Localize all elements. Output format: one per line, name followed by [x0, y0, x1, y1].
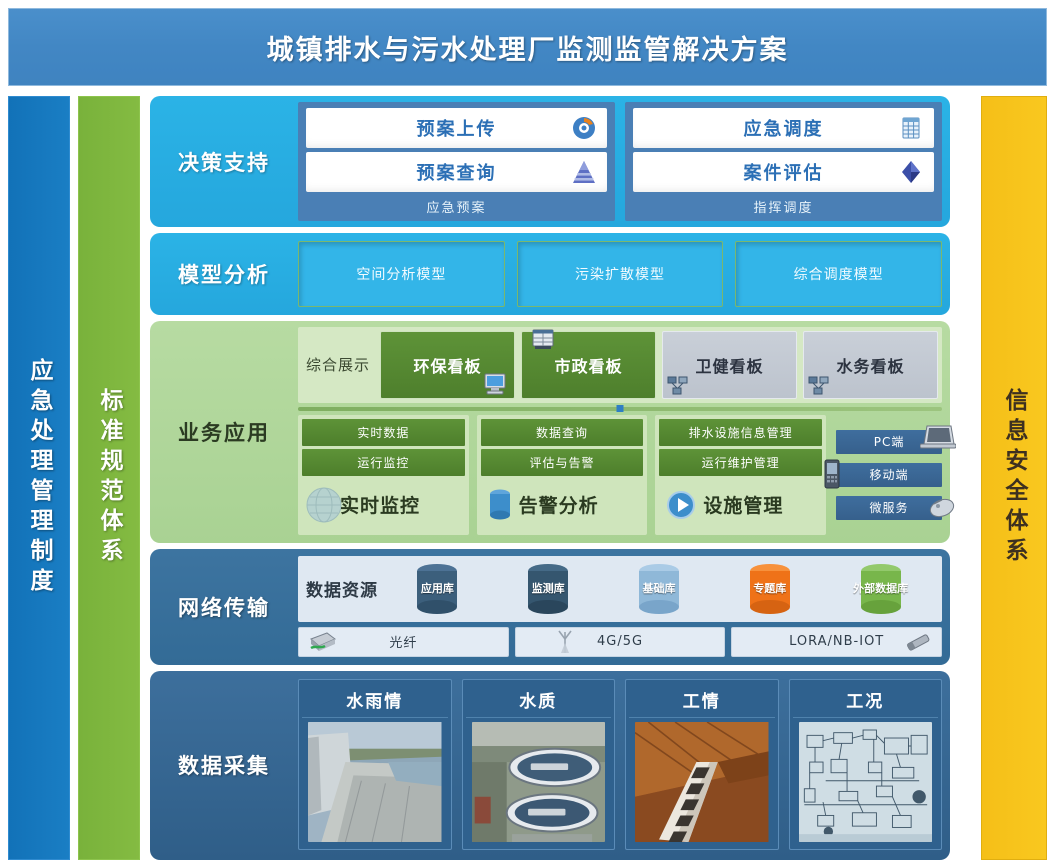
cylinder-icon: 监测库	[520, 562, 576, 616]
sedimentation-tanks-photo	[472, 722, 606, 842]
decision-group-command-dispatch: 应急调度 案件评估 指挥调度	[625, 102, 942, 221]
database-thematic-label: 专题库	[753, 583, 786, 595]
transport-fiber[interactable]: 光纤	[298, 627, 509, 657]
scada-schematic-photo	[799, 722, 933, 842]
terminal-column: PC端 移动端 微服务	[834, 415, 942, 535]
layer-model-analysis-label: 模型分析	[150, 259, 298, 289]
board-municipal-label: 市政看板	[555, 353, 623, 377]
database-application[interactable]: 应用库	[384, 562, 491, 616]
cycle-icon	[571, 115, 597, 141]
terminal-microservice-label: 微服务	[870, 499, 909, 516]
business-column-facility: 排水设施信息管理 运行维护管理 设施管理	[655, 415, 826, 535]
acquisition-card-project-status-label: 工情	[629, 683, 775, 718]
pill-drainage-facility-info[interactable]: 排水设施信息管理	[659, 419, 822, 446]
play-icon	[665, 489, 697, 521]
laptop-icon	[920, 424, 956, 452]
pyramid-icon	[571, 159, 597, 185]
feature-realtime-monitoring[interactable]: 实时监控	[302, 479, 465, 531]
transport-lora-nbiot-label: LORA/NB-IOT	[789, 634, 884, 649]
data-resource-row: 数据资源 应用库 监测库	[298, 556, 942, 622]
terminal-microservice[interactable]: 微服务	[836, 496, 942, 520]
sensor-icon	[903, 630, 933, 654]
mouse-icon	[926, 494, 958, 520]
database-external[interactable]: 外部数据库	[827, 562, 934, 616]
decision-card-case-evaluation[interactable]: 案件评估	[633, 152, 934, 192]
database-icon	[487, 488, 513, 522]
board-environmental[interactable]: 环保看板	[380, 331, 515, 399]
business-column-monitoring: 实时数据 运行监控 实时监控	[298, 415, 469, 535]
pill-realtime-data[interactable]: 实时数据	[302, 419, 465, 446]
layer-decision-support: 决策支持 预案上传 预案查询 应急预案	[150, 96, 950, 227]
river-embankment-photo	[308, 722, 442, 842]
cylinder-icon: 基础库	[631, 562, 687, 616]
acquisition-card-water-quality-label: 水质	[466, 683, 612, 718]
diamond-icon	[898, 159, 924, 185]
decision-card-plan-upload[interactable]: 预案上传	[306, 108, 607, 148]
pillar-emergency-management: 应急处理管理制度	[8, 96, 70, 860]
model-card-integrated-dispatch[interactable]: 综合调度模型	[735, 241, 942, 307]
board-water-affairs-label: 水务看板	[837, 353, 905, 377]
layer-decision-support-label: 决策支持	[150, 147, 298, 177]
database-basic-label: 基础库	[642, 583, 675, 595]
diagram-canvas: 城镇排水与污水处理厂监测监管解决方案 应急处理管理制度 标准规范体系 信息安全体…	[0, 0, 1055, 868]
decision-group-emergency-plan: 预案上传 预案查询 应急预案	[298, 102, 615, 221]
model-card-spatial[interactable]: 空间分析模型	[298, 241, 505, 307]
fiber-icon	[307, 631, 337, 653]
phone-icon	[820, 458, 844, 490]
board-municipal[interactable]: 市政看板	[521, 331, 656, 399]
pipeline-trench-photo	[635, 722, 769, 842]
pillar-emergency-management-label: 应急处理管理制度	[22, 358, 56, 598]
layer-network-transmission-label: 网络传输	[150, 592, 298, 622]
business-divider	[298, 407, 942, 411]
decision-card-emergency-dispatch[interactable]: 应急调度	[633, 108, 934, 148]
layer-business-application-label: 业务应用	[150, 417, 298, 447]
decision-card-case-evaluation-label: 案件评估	[744, 159, 824, 185]
layer-model-analysis: 模型分析 空间分析模型 污染扩散模型 综合调度模型	[150, 233, 950, 315]
cylinder-icon: 外部数据库	[853, 562, 909, 616]
feature-facility-management[interactable]: 设施管理	[659, 479, 822, 531]
decision-card-plan-query[interactable]: 预案查询	[306, 152, 607, 192]
page-title: 城镇排水与污水处理厂监测监管解决方案	[267, 28, 789, 67]
window-icon	[530, 328, 556, 352]
database-external-label: 外部数据库	[853, 583, 908, 595]
database-application-label: 应用库	[421, 583, 454, 595]
feature-alarm-analysis[interactable]: 告警分析	[481, 479, 644, 531]
board-water-affairs[interactable]: 水务看板	[803, 331, 938, 399]
acquisition-card-hydrology-label: 水雨情	[302, 683, 448, 718]
terminal-pc-label: PC端	[874, 433, 905, 450]
database-thematic[interactable]: 专题库	[716, 562, 823, 616]
acquisition-card-project-status[interactable]: 工情	[625, 679, 779, 850]
comprehensive-display-row: 综合展示 环保看板 市政看板 卫健看板	[298, 327, 942, 403]
pill-operation-monitoring[interactable]: 运行监控	[302, 449, 465, 476]
board-health-label: 卫健看板	[696, 353, 764, 377]
layer-business-application: 业务应用 综合展示 环保看板 市政看板	[150, 321, 950, 543]
transport-fiber-label: 光纤	[389, 632, 417, 651]
pill-operation-maintenance[interactable]: 运行维护管理	[659, 449, 822, 476]
transport-lora-nbiot[interactable]: LORA/NB-IOT	[731, 627, 942, 657]
model-card-pollution-diffusion[interactable]: 污染扩散模型	[517, 241, 724, 307]
decision-card-plan-upload-label: 预案上传	[417, 115, 497, 141]
layer-network-transmission: 网络传输 数据资源 应用库 监测库	[150, 549, 950, 665]
database-monitoring[interactable]: 监测库	[495, 562, 602, 616]
monitor-icon	[482, 372, 508, 396]
pillar-standards-system: 标准规范体系	[78, 96, 140, 860]
business-column-alarm: 数据查询 评估与告警 告警分析	[477, 415, 648, 535]
transport-4g5g-label: 4G/5G	[597, 634, 643, 649]
transport-row: 光纤 4G/5G LORA/NB-IOT	[298, 627, 942, 657]
layer-stack: 决策支持 预案上传 预案查询 应急预案	[150, 96, 950, 860]
cylinder-icon: 专题库	[742, 562, 798, 616]
feature-realtime-monitoring-label: 实时监控	[340, 491, 420, 518]
database-basic[interactable]: 基础库	[606, 562, 713, 616]
diagram-title-bar: 城镇排水与污水处理厂监测监管解决方案	[8, 8, 1047, 86]
terminal-pc[interactable]: PC端	[836, 430, 942, 454]
feature-alarm-analysis-label: 告警分析	[519, 491, 599, 518]
network-icon	[667, 376, 689, 396]
terminal-mobile[interactable]: 移动端	[836, 463, 942, 487]
comprehensive-display-caption: 综合展示	[306, 331, 374, 399]
decision-card-plan-query-label: 预案查询	[417, 159, 497, 185]
decision-card-emergency-dispatch-label: 应急调度	[744, 115, 824, 141]
acquisition-card-hydrology[interactable]: 水雨情	[298, 679, 452, 850]
globe-icon	[304, 485, 344, 525]
database-monitoring-label: 监测库	[532, 583, 565, 595]
acquisition-card-operating-condition-label: 工况	[793, 683, 939, 718]
cylinder-icon: 应用库	[409, 562, 465, 616]
pillar-information-security: 信息安全体系	[981, 96, 1047, 860]
decision-group-command-dispatch-footer: 指挥调度	[633, 196, 934, 219]
business-modules-row: 实时数据 运行监控 实时监控 数据查询 评估与告警	[298, 415, 942, 535]
grid-table-icon	[898, 115, 924, 141]
transport-4g5g[interactable]: 4G/5G	[515, 627, 726, 657]
terminal-mobile-label: 移动端	[870, 466, 909, 483]
feature-facility-management-label: 设施管理	[703, 491, 783, 518]
decision-group-emergency-plan-footer: 应急预案	[306, 196, 607, 219]
network-icon	[808, 376, 830, 396]
acquisition-card-water-quality[interactable]: 水质	[462, 679, 616, 850]
pillar-standards-system-label: 标准规范体系	[92, 388, 126, 568]
acquisition-card-operating-condition[interactable]: 工况	[789, 679, 943, 850]
board-environmental-label: 环保看板	[414, 353, 482, 377]
board-health[interactable]: 卫健看板	[662, 331, 797, 399]
layer-data-acquisition: 数据采集 水雨情	[150, 671, 950, 860]
data-resource-caption: 数据资源	[306, 576, 380, 601]
layer-data-acquisition-label: 数据采集	[150, 750, 298, 780]
pillar-information-security-label: 信息安全体系	[997, 388, 1031, 568]
pill-data-query[interactable]: 数据查询	[481, 419, 644, 446]
pill-evaluation-alarm[interactable]: 评估与告警	[481, 449, 644, 476]
antenna-icon	[554, 629, 576, 655]
